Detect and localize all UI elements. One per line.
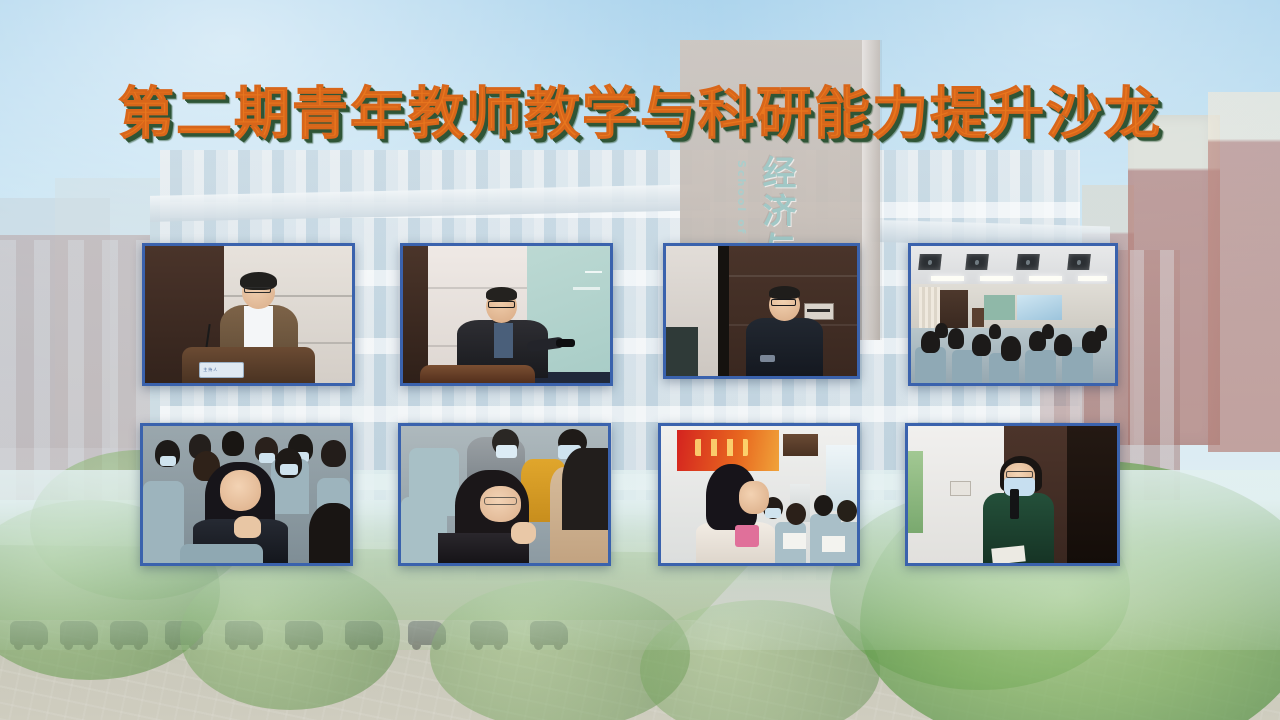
p8-dark-opening (1067, 426, 1117, 563)
p2-podium (420, 365, 536, 383)
p4-podium (972, 308, 984, 327)
photo-lecture-hall-wide[interactable] (908, 243, 1118, 386)
photo-audience-profile-banner[interactable] (658, 423, 860, 566)
photo-presenter-clicker[interactable] (400, 243, 613, 386)
p8-paper-sheet (991, 545, 1026, 563)
p3-speaker-hair (769, 286, 800, 299)
p6-person-right-hair (562, 448, 608, 530)
p2-wall-dark (403, 246, 428, 383)
p1-nameplate: 主持人 (199, 362, 245, 377)
photo-audience-woman-listening[interactable] (140, 423, 353, 566)
p2-presenter-shirt (494, 323, 513, 359)
p2-presenter-hair (486, 287, 517, 301)
p2-screen-line-1 (585, 271, 602, 274)
photo-speaker-podium[interactable]: 主持人 (142, 243, 355, 386)
p2-screen-line-2 (573, 287, 600, 290)
p7-wall-shelf (783, 434, 818, 456)
p7-woman-scarf (735, 525, 759, 547)
p5-woman-face (220, 470, 261, 511)
distant-tower-b (1208, 92, 1280, 452)
poster-stage: School of Econ 经济与 第二期青年教师教学与科研能力提升沙龙 (0, 0, 1280, 720)
p8-window-greenery (908, 451, 923, 533)
p3-wood-seam-upper (729, 275, 857, 277)
p6-woman-glasses (484, 497, 517, 505)
p1-nameplate-text: 主持人 (203, 367, 218, 373)
p1-speaker-glasses (244, 287, 271, 292)
p8-light-switch (950, 481, 971, 496)
p2-presenter-glasses (488, 301, 515, 308)
p7-woman-face (739, 481, 768, 514)
p3-speaker-glasses (771, 299, 796, 306)
p3-blackboard (666, 327, 698, 376)
p3-wall-strip (718, 246, 729, 376)
page-title: 第二期青年教师教学与科研能力提升沙龙 (0, 84, 1280, 146)
p8-woman-glasses (1006, 471, 1033, 478)
photo-speaker-arms-crossed[interactable] (663, 243, 860, 379)
p8-woman-mask (1004, 478, 1035, 496)
photo-audience-woman-glasses[interactable] (398, 423, 611, 566)
p4-curtain (919, 287, 939, 328)
p6-woman-hand (511, 522, 536, 544)
p8-microphone (1010, 489, 1018, 519)
p5-woman-hand (234, 516, 261, 538)
p4-green-board (984, 295, 1015, 320)
p3-speaker-cuff (760, 355, 775, 362)
tree-left-3 (180, 560, 400, 710)
p4-projection-screen (1017, 295, 1062, 320)
photo-woman-microphone[interactable] (905, 423, 1120, 566)
p2-presenter-clicker (556, 339, 575, 347)
p3-speaker-body (746, 318, 822, 377)
